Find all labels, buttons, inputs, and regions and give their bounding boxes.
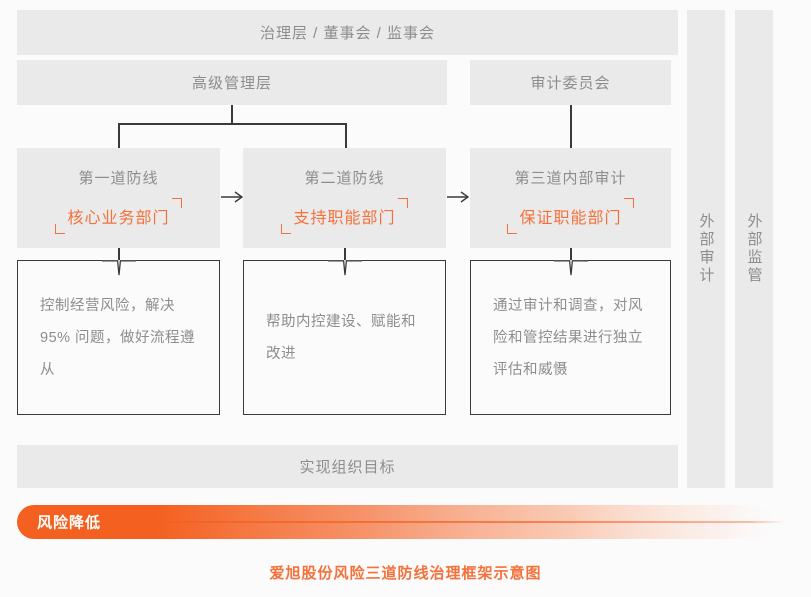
diagram-canvas: 治理层 / 董事会 / 监事会 高级管理层 审计委员会 外部审计 外部监管 第一…: [0, 0, 811, 597]
description-box-1: 控制经营风险，解决95% 问题，做好流程遵从: [17, 260, 220, 415]
defense-line-subtitle-3: 保证职能部门: [519, 210, 621, 227]
notch-chevron-icon: [554, 260, 588, 278]
connector-audit-committee-drop: [570, 105, 572, 148]
bracket-top-right-icon: [398, 198, 408, 208]
notch-chevron-icon: [328, 260, 362, 278]
diagram-caption: 爱旭股份风险三道防线治理框架示意图: [0, 562, 811, 583]
risk-reduction-bar: 风险降低: [17, 505, 787, 539]
bracket-bottom-left-icon: [55, 224, 65, 234]
description-text-3: 通过审计和调查，对风险和管控结果进行独立评估和威慑: [493, 290, 648, 386]
description-text-2: 帮助内控建设、赋能和改进: [266, 306, 423, 370]
senior-management-label: 高级管理层: [192, 72, 272, 93]
description-box-2: 帮助内控建设、赋能和改进: [243, 260, 446, 415]
defense-line-subtitle-1: 核心业务部门: [67, 210, 169, 227]
external-audit-column: 外部审计: [687, 10, 725, 488]
connector-senior-right-drop: [345, 123, 347, 148]
arrow-right-icon: [221, 190, 243, 208]
external-regulation-label: 外部监管: [747, 213, 762, 285]
defense-line-title-1: 第一道防线: [78, 167, 158, 188]
organization-goal-label: 实现组织目标: [299, 456, 395, 477]
bracket-bottom-left-icon: [507, 224, 517, 234]
risk-reduction-label: 风险降低: [37, 512, 101, 533]
defense-line-subtitle-2: 支持职能部门: [293, 210, 395, 227]
description-box-3: 通过审计和调查，对风险和管控结果进行独立评估和威慑: [470, 260, 671, 415]
bracket-top-right-icon: [172, 198, 182, 208]
defense-line-box-3: 第三道内部审计 保证职能部门: [470, 148, 671, 248]
notch-chevron-icon: [102, 260, 136, 278]
bracket-top-right-icon: [624, 198, 634, 208]
defense-line-title-3: 第三道内部审计: [514, 167, 626, 188]
external-regulation-column: 外部监管: [735, 10, 773, 488]
audit-committee-label: 审计委员会: [530, 72, 610, 93]
governance-layer-label: 治理层 / 董事会 / 监事会: [260, 22, 435, 43]
defense-line-subtitle-wrap-1: 核心业务部门: [57, 202, 179, 230]
defense-line-subtitle-wrap-2: 支持职能部门: [283, 202, 405, 230]
connector-senior-stem: [231, 105, 233, 124]
audit-committee-box: 审计委员会: [470, 60, 671, 105]
bracket-bottom-left-icon: [281, 224, 291, 234]
organization-goal-bar: 实现组织目标: [17, 445, 678, 488]
external-audit-label: 外部审计: [699, 213, 714, 285]
description-text-1: 控制经营风险，解决95% 问题，做好流程遵从: [40, 290, 197, 386]
connector-senior-horizontal: [118, 123, 346, 125]
defense-line-box-1: 第一道防线 核心业务部门: [17, 148, 220, 248]
senior-management-box: 高级管理层: [17, 60, 447, 105]
governance-layer-bar: 治理层 / 董事会 / 监事会: [17, 10, 678, 55]
connector-senior-left-drop: [118, 123, 120, 148]
defense-line-subtitle-wrap-3: 保证职能部门: [509, 202, 631, 230]
risk-reduction-shape: [17, 505, 787, 539]
defense-line-box-2: 第二道防线 支持职能部门: [243, 148, 446, 248]
arrow-right-icon: [447, 190, 469, 208]
defense-line-title-2: 第二道防线: [304, 167, 384, 188]
